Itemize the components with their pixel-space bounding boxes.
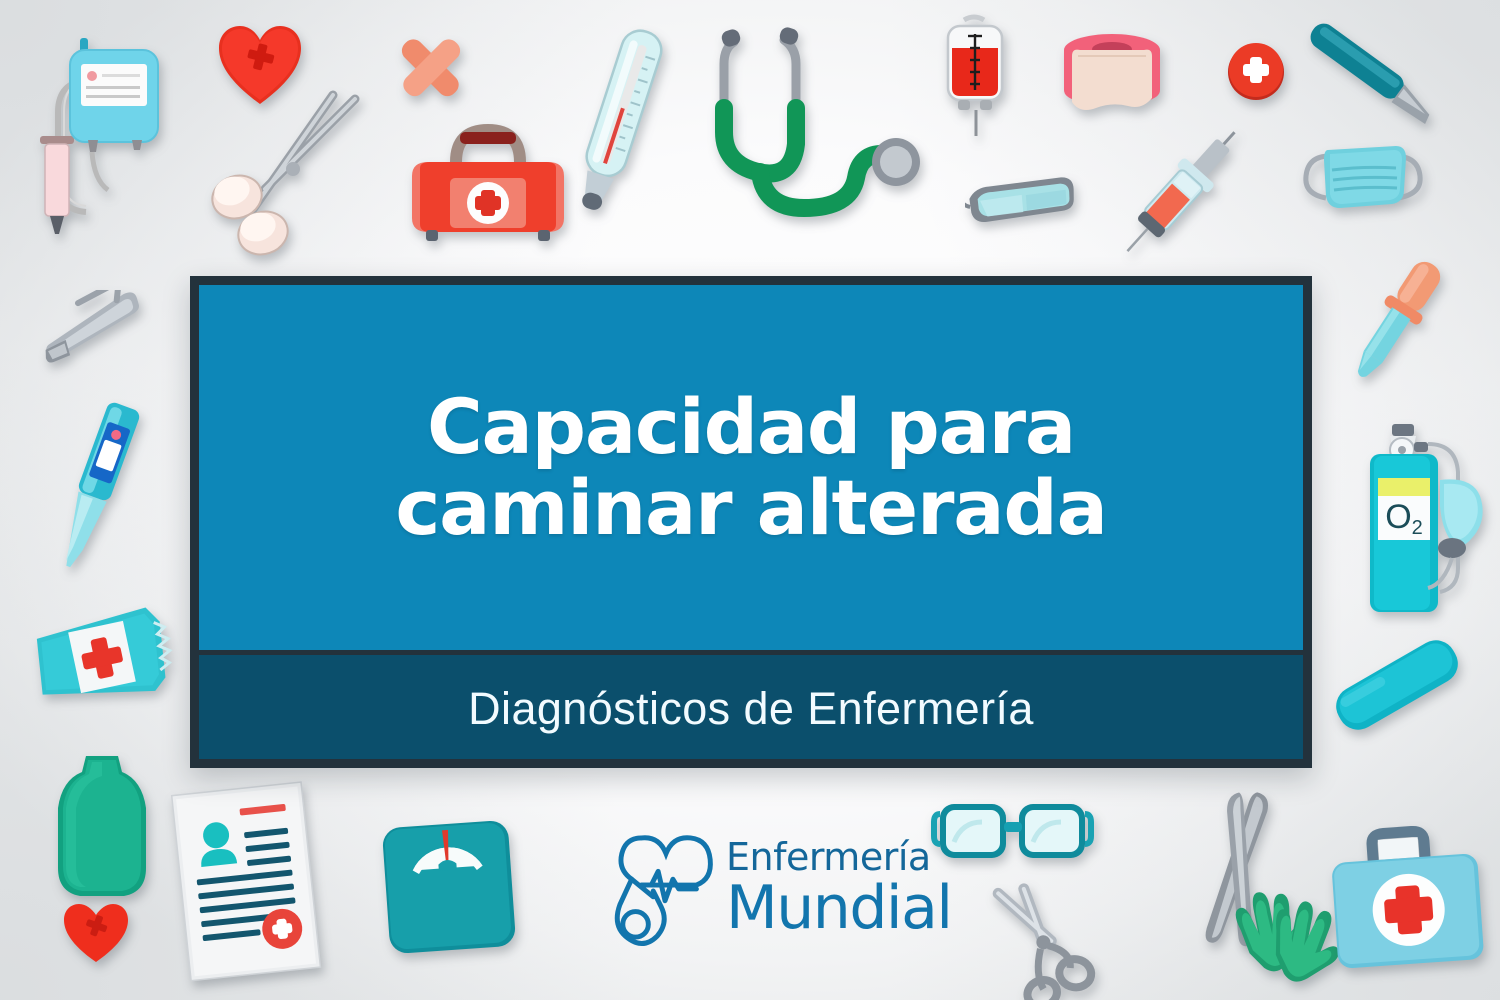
syringe-icon: [1112, 110, 1262, 260]
first-aid-bag-icon: [398, 120, 578, 248]
adhesive-bandage-cross-icon: [392, 28, 470, 106]
banner-title-area: Capacidad para caminar alterada: [199, 285, 1303, 650]
scissors-icon: [985, 880, 1105, 1000]
blue-bandage-icon: [1325, 625, 1470, 745]
brand-logo[interactable]: Enfermería Mundial: [612, 818, 912, 958]
bandage-pack-icon: [30, 600, 175, 715]
small-heart-icon: [60, 900, 132, 966]
hot-water-bottle-icon: [42, 750, 162, 910]
iv-drip-bag-icon: [28, 20, 188, 250]
banner-subtitle-area: Diagnósticos de Enfermería: [199, 650, 1303, 759]
safety-goggles-icon: [965, 170, 1080, 232]
page-subtitle: Diagnósticos de Enfermería: [468, 683, 1034, 735]
surgical-forceps-icon: [205, 85, 370, 260]
brand-line-2: Mundial: [726, 878, 952, 938]
poster-canvas: O2 Capacidad para caminar: [0, 0, 1500, 1000]
brand-wordmark: Enfermería Mundial: [726, 838, 952, 938]
red-cross-badge-icon: [1225, 40, 1287, 102]
title-banner: Capacidad para caminar alterada Diagnóst…: [190, 276, 1312, 768]
stethoscope-heart-ecg-icon: [612, 824, 720, 952]
eyeglasses-icon: [930, 792, 1095, 872]
dropper-icon: [1330, 250, 1465, 390]
oxygen-tank-icon: O2: [1340, 420, 1490, 625]
medical-case-icon: [1320, 820, 1495, 980]
weight-scale-icon: [374, 812, 524, 962]
nail-clipper-icon: [28, 290, 158, 370]
brand-line-1: Enfermería: [726, 838, 952, 876]
blood-bag-icon: [930, 14, 1020, 139]
medical-record-icon: [160, 780, 340, 1000]
digital-thermometer-icon: [40, 395, 150, 585]
scalpel-icon: [1290, 14, 1460, 144]
stethoscope-icon: [700, 12, 940, 232]
face-mask-icon: [1292, 128, 1432, 228]
mercury-thermometer-icon: [556, 22, 684, 222]
page-title: Capacidad para caminar alterada: [395, 387, 1106, 548]
